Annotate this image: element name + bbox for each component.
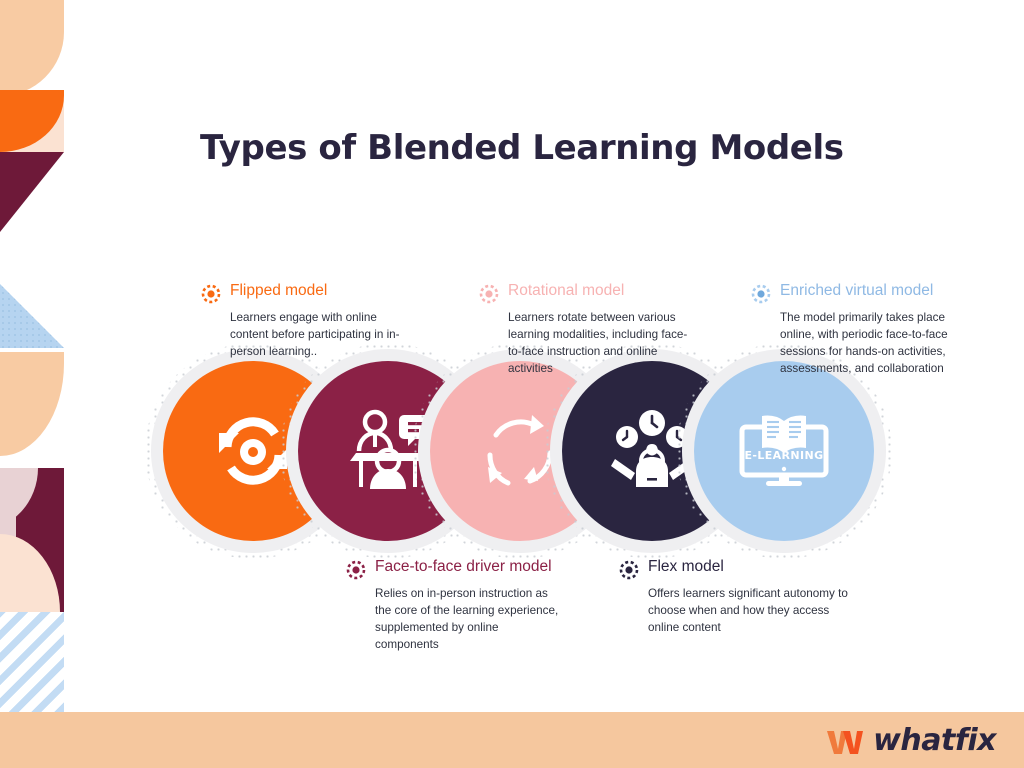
- circle-disc-enriched-virtual: E-LEARNING: [694, 361, 874, 541]
- label-desc-rotational: Learners rotate between various learning…: [508, 310, 690, 378]
- label-head-flex: Flex model: [618, 558, 848, 581]
- elearning-monitor-icon: E-LEARNING: [736, 405, 832, 497]
- label-desc-flex: Offers learners significant autonomy to …: [648, 586, 848, 637]
- label-title-rotational: Rotational model: [508, 282, 624, 300]
- label-head-rotational: Rotational model: [478, 282, 690, 305]
- label-desc-flipped: Learners engage with online content befo…: [230, 310, 405, 361]
- dotted-circle-bullet-icon: [750, 283, 772, 305]
- whatfix-mark-icon: [825, 725, 871, 757]
- label-rotational: Rotational model Learners rotate between…: [478, 282, 690, 378]
- dotted-circle-bullet-icon: [200, 283, 222, 305]
- label-flipped: Flipped model Learners engage with onlin…: [200, 282, 405, 361]
- label-title-flipped: Flipped model: [230, 282, 327, 300]
- whatfix-logo[interactable]: whatfix: [825, 725, 996, 757]
- dotted-circle-bullet-icon: [478, 283, 500, 305]
- circle-node-enriched-virtual[interactable]: E-LEARNING: [694, 361, 874, 541]
- label-enriched-virtual: Enriched virtual model The model primari…: [750, 282, 982, 378]
- label-desc-face-to-face-driver: Relies on in-person instruction as the c…: [375, 586, 561, 654]
- label-face-to-face-driver: Face-to-face driver model Relies on in-p…: [345, 558, 561, 654]
- label-title-enriched-virtual: Enriched virtual model: [780, 282, 933, 300]
- dotted-circle-bullet-icon: [345, 559, 367, 581]
- whatfix-wordmark: whatfix: [873, 726, 996, 756]
- label-title-flex: Flex model: [648, 558, 724, 576]
- dotted-circle-bullet-icon: [618, 559, 640, 581]
- label-desc-enriched-virtual: The model primarily takes place online, …: [780, 310, 982, 378]
- label-flex: Flex model Offers learners significant a…: [618, 558, 848, 637]
- label-head-face-to-face-driver: Face-to-face driver model: [345, 558, 561, 581]
- label-title-face-to-face-driver: Face-to-face driver model: [375, 558, 552, 576]
- elearning-label: E-LEARNING: [744, 449, 823, 462]
- label-head-enriched-virtual: Enriched virtual model: [750, 282, 982, 305]
- label-head-flipped: Flipped model: [200, 282, 405, 305]
